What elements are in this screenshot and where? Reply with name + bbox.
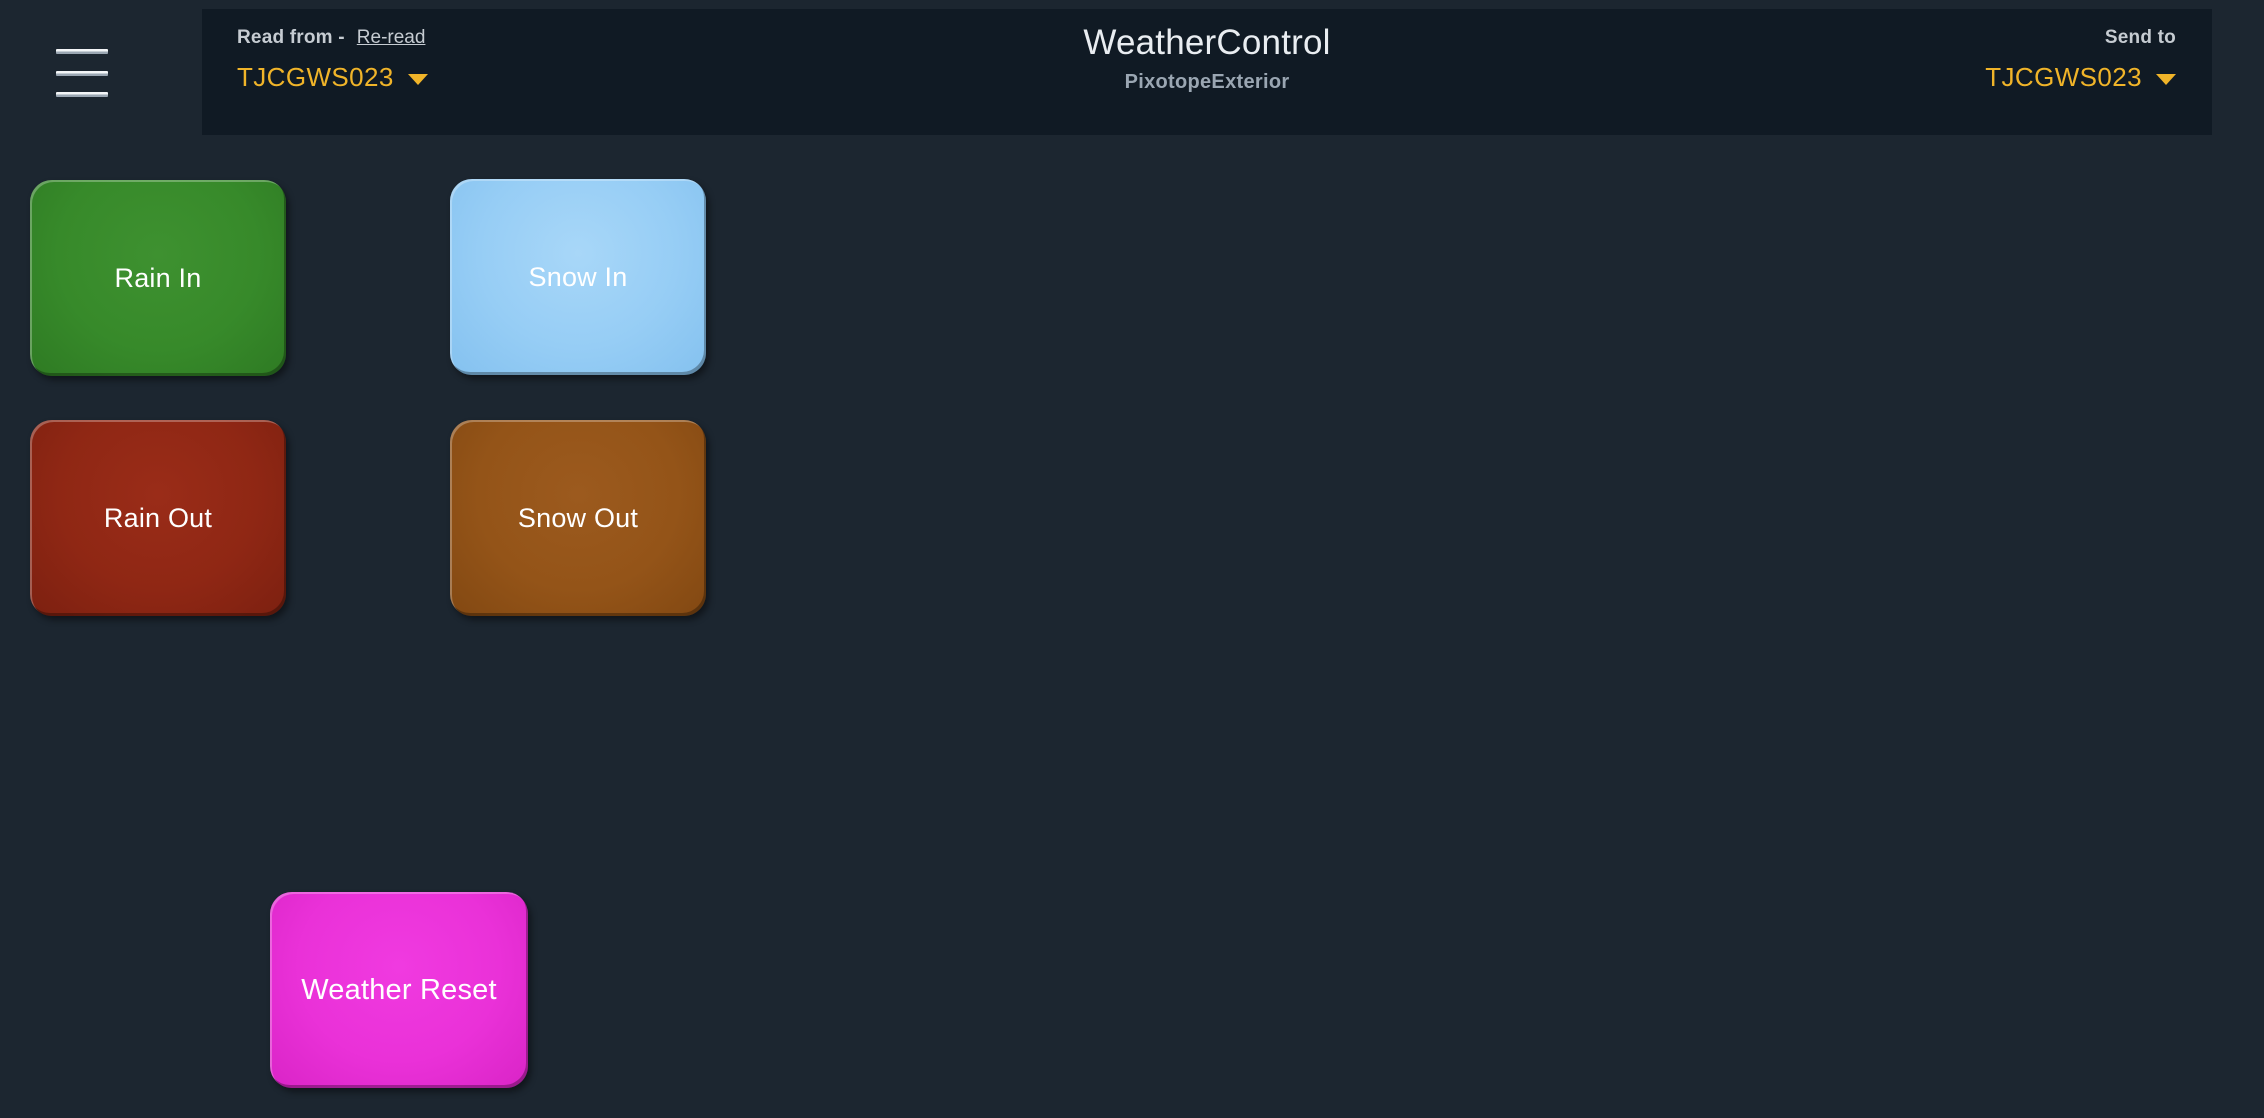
snow-in-button[interactable]: Snow In [450, 179, 706, 375]
rain-out-button[interactable]: Rain Out [30, 420, 286, 616]
page-subtitle: PixotopeExterior [202, 71, 2212, 94]
chevron-down-icon [408, 74, 428, 85]
send-to-label: Send to [1985, 27, 2176, 49]
read-from-row: Read from - Re-read [237, 27, 428, 49]
weather-reset-button[interactable]: Weather Reset [270, 892, 528, 1088]
hamburger-menu-icon[interactable] [50, 44, 114, 102]
hamburger-bar-bottom [56, 92, 108, 97]
header-title-group: WeatherControl PixotopeExterior [202, 23, 2212, 94]
header-bar: Read from - Re-read TJCGWS023 WeatherCon… [202, 9, 2212, 135]
hamburger-bar-top [56, 49, 108, 54]
hamburger-bar-middle [56, 71, 108, 76]
read-from-group: Read from - Re-read TJCGWS023 [237, 27, 428, 93]
chevron-down-icon [2156, 74, 2176, 85]
send-to-group: Send to TJCGWS023 [1985, 27, 2176, 93]
read-from-source-value: TJCGWS023 [237, 62, 394, 93]
snow-out-button[interactable]: Snow Out [450, 420, 706, 616]
send-to-target-value: TJCGWS023 [1985, 62, 2142, 93]
read-from-label: Read from - [237, 27, 345, 49]
rain-in-button[interactable]: Rain In [30, 180, 286, 376]
read-from-source-dropdown[interactable]: TJCGWS023 [237, 62, 428, 93]
re-read-link[interactable]: Re-read [357, 27, 426, 49]
weather-control-app: Read from - Re-read TJCGWS023 WeatherCon… [0, 0, 2264, 1118]
page-title: WeatherControl [202, 23, 2212, 63]
send-to-target-dropdown[interactable]: TJCGWS023 [1985, 62, 2176, 93]
